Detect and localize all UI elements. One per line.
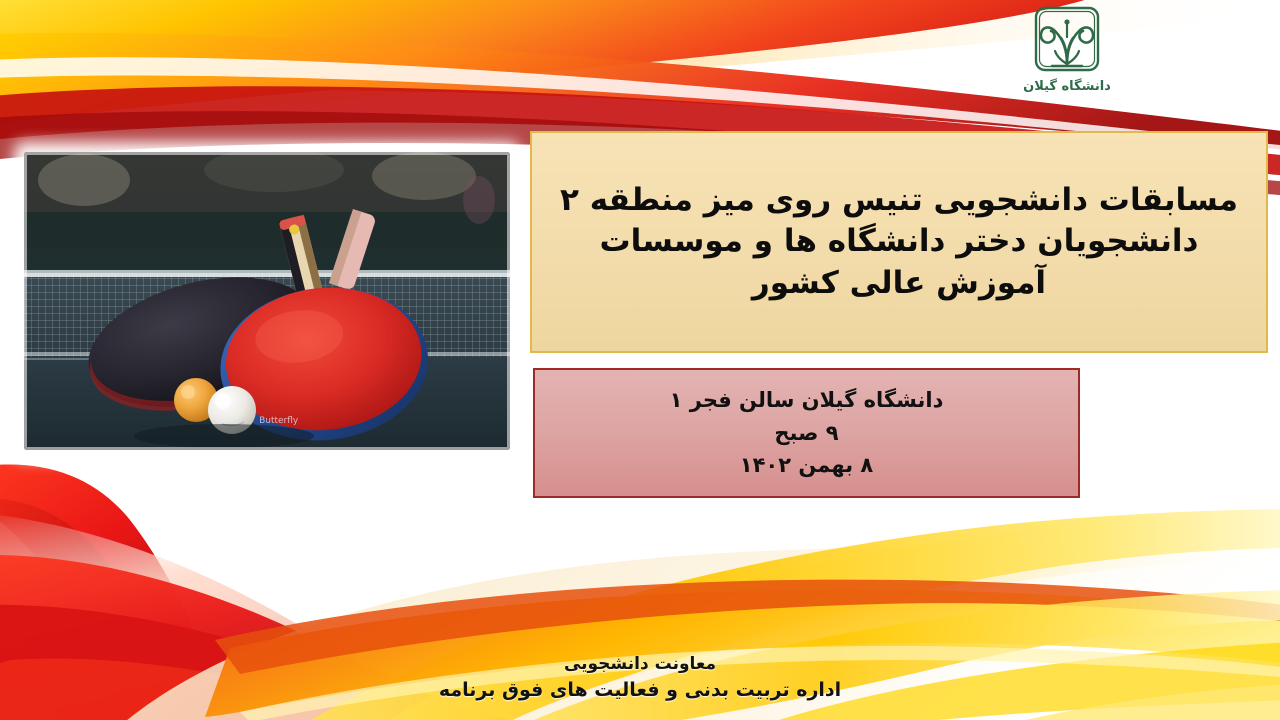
event-details-box: دانشگاه گیلان سالن فجر ۱ ۹ صبح ۸ بهمن ۱۴… xyxy=(533,368,1080,498)
event-details: دانشگاه گیلان سالن فجر ۱ ۹ صبح ۸ بهمن ۱۴… xyxy=(670,384,944,482)
university-logo: دانشگاه گیلان xyxy=(1022,4,1126,108)
title-line-1: مسابقات دانشجویی تنیس روی میز منطقه ۲ xyxy=(546,180,1252,221)
table-tennis-photo: Butterfly xyxy=(24,152,510,450)
footer: معاونت دانشجویی اداره تربیت بدنی و فعالی… xyxy=(0,652,1280,704)
poster-canvas: Butterfly xyxy=(0,0,1280,720)
footer-line-1: معاونت دانشجویی xyxy=(0,652,1280,677)
footer-line-2: اداره تربیت بدنی و فعالیت های فوق برنامه xyxy=(0,677,1280,705)
title-box: مسابقات دانشجویی تنیس روی میز منطقه ۲ دا… xyxy=(530,131,1268,353)
event-time: ۹ صبح xyxy=(670,417,944,450)
event-date: ۸ بهمن ۱۴۰۲ xyxy=(670,449,944,482)
event-venue: دانشگاه گیلان سالن فجر ۱ xyxy=(670,384,944,417)
svg-text:Butterfly: Butterfly xyxy=(259,416,299,426)
title-line-2: دانشجویان دختر دانشگاه ها و موسسات xyxy=(546,221,1252,262)
logo-caption: دانشگاه گیلان xyxy=(1023,78,1111,94)
poster-title: مسابقات دانشجویی تنیس روی میز منطقه ۲ دا… xyxy=(532,180,1266,304)
title-line-3: آموزش عالی کشور xyxy=(546,263,1252,304)
